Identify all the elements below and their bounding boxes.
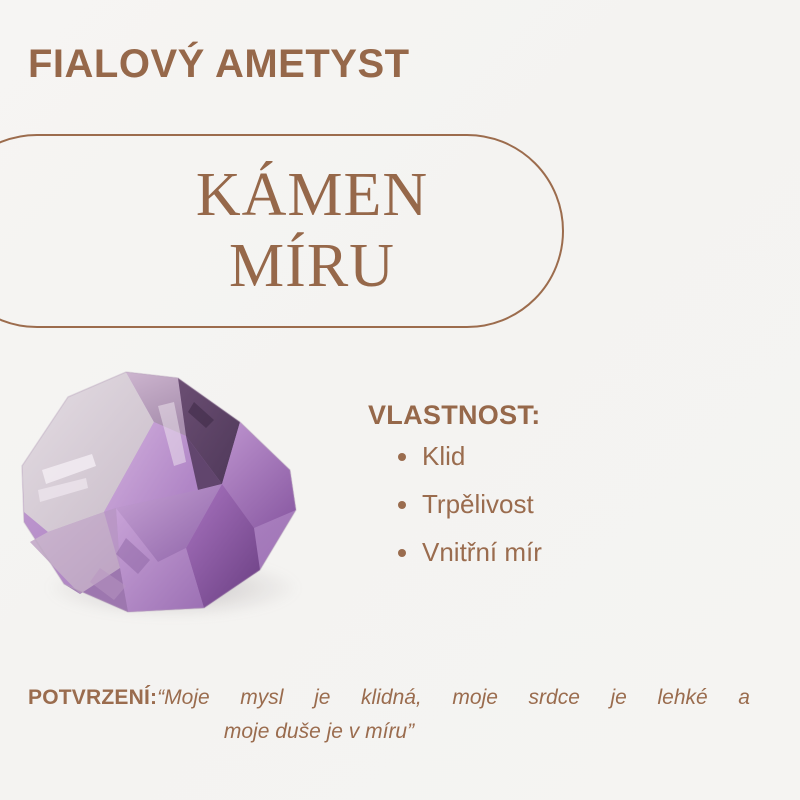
affirmation-quote-line-1: “Moje mysl je klidná, moje srdce je lehk… <box>157 686 750 709</box>
list-item-label: Vnitřní mír <box>422 537 542 567</box>
list-item-label: Klid <box>422 441 465 471</box>
badge-line-1: KÁMEN <box>196 164 428 227</box>
badge-text-group: KÁMEN MÍRU <box>60 134 564 328</box>
amethyst-info-card: FIALOVÝ AMETYST KÁMEN MÍRU <box>0 0 800 800</box>
bullet-icon <box>398 549 406 557</box>
page-title: FIALOVÝ AMETYST <box>28 42 410 87</box>
bullet-icon <box>398 501 406 509</box>
list-item-label: Trpělivost <box>422 489 534 519</box>
list-item: Trpělivost <box>398 491 748 517</box>
crystal-svg <box>8 362 318 634</box>
affirmation-quote-line-2: moje duše je v míru” <box>28 716 750 748</box>
affirmation-line-1: POTVRZENÍ:“Moje mysl je klidná, moje srd… <box>28 682 750 714</box>
list-item: Klid <box>398 443 748 469</box>
affirmation-label: POTVRZENÍ: <box>28 686 157 709</box>
badge-line-2: MÍRU <box>229 235 395 298</box>
list-item: Vnitřní mír <box>398 539 748 565</box>
properties-section: VLASTNOST: Klid Trpělivost Vnitřní mír <box>368 400 748 587</box>
affirmation-section: POTVRZENÍ:“Moje mysl je klidná, moje srd… <box>28 682 750 747</box>
properties-heading: VLASTNOST: <box>368 400 748 431</box>
amethyst-crystal-image <box>8 362 318 634</box>
properties-list: Klid Trpělivost Vnitřní mír <box>368 443 748 565</box>
bullet-icon <box>398 453 406 461</box>
